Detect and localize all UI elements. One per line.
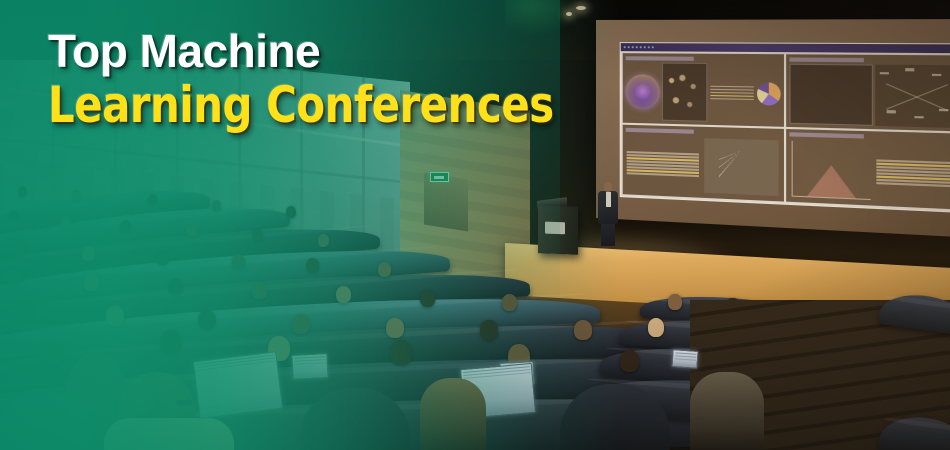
attendee-laptop xyxy=(291,353,328,380)
banner-headline: Top Machine Learning Conferences xyxy=(48,26,608,132)
panel-heading-bar xyxy=(626,128,694,134)
headline-line-1: Top Machine xyxy=(48,26,608,76)
ceiling-light-fixture xyxy=(576,6,586,10)
slide-panel-network xyxy=(786,54,950,131)
audience-head xyxy=(390,340,412,365)
article-banner: Top Machine Learning Conferences xyxy=(0,0,950,450)
orbital-diagram xyxy=(789,64,872,126)
projection-screen xyxy=(596,19,950,238)
audience-head xyxy=(42,340,64,365)
panel-text-lines xyxy=(875,141,950,206)
slide-panel-molecular xyxy=(623,53,784,127)
foreground-seat xyxy=(0,392,90,450)
particle-cluster-image xyxy=(662,63,707,122)
audience-head xyxy=(292,314,310,334)
audience-head xyxy=(306,258,319,273)
foreground-attendee-sweater xyxy=(104,418,234,450)
audience-head xyxy=(14,240,27,255)
audience-head xyxy=(148,194,157,205)
audience-head xyxy=(252,282,267,299)
slide-panel-funnel xyxy=(623,125,784,202)
audience-head xyxy=(574,320,592,340)
audience-head xyxy=(378,262,391,277)
attendee-laptop xyxy=(671,349,698,369)
funnel-diagram xyxy=(704,138,779,196)
slide-panel-distribution xyxy=(786,129,950,210)
panel-heading-bar xyxy=(789,132,864,138)
audience-head xyxy=(84,274,99,291)
audience-head xyxy=(668,294,682,310)
audience-head xyxy=(648,318,664,337)
audience-head xyxy=(502,294,517,311)
lectern xyxy=(538,205,578,254)
eyeglasses xyxy=(176,400,192,406)
audience-head xyxy=(232,254,245,269)
audience-head xyxy=(252,228,263,241)
headline-line-2: Learning Conferences xyxy=(48,78,569,132)
foreground-attendee xyxy=(690,372,764,450)
ceiling-light-fixture xyxy=(566,12,572,16)
panel-text-lines xyxy=(709,63,755,123)
audience-head xyxy=(186,224,197,237)
audience-head xyxy=(120,220,131,233)
audience-head xyxy=(336,286,351,303)
audience-head xyxy=(620,350,639,372)
audience-head xyxy=(6,268,21,285)
foreground-laptop xyxy=(193,351,283,419)
audience-head xyxy=(480,320,498,340)
audience-head xyxy=(72,190,81,201)
network-graph xyxy=(875,65,950,129)
distribution-plot xyxy=(792,141,871,200)
audience-head xyxy=(8,210,19,223)
pie-chart xyxy=(757,82,781,105)
audience-head xyxy=(168,278,183,295)
projected-slide xyxy=(620,42,950,213)
slide-panel-grid xyxy=(621,51,950,212)
audience-head xyxy=(18,186,27,197)
audience-head xyxy=(106,306,124,326)
panel-heading-bar xyxy=(789,57,864,62)
audience-head xyxy=(60,216,71,229)
audience-head xyxy=(82,246,95,261)
audience-head xyxy=(212,200,221,211)
audience-head xyxy=(156,250,169,265)
panel-heading-bar xyxy=(626,56,694,61)
audience-head xyxy=(318,234,329,247)
exit-sign xyxy=(430,172,449,182)
foreground-attendee xyxy=(420,378,486,450)
audience-head xyxy=(286,206,296,218)
speaker-legs xyxy=(601,222,615,246)
molecule-visualisation xyxy=(626,74,660,109)
panel-text-lines xyxy=(626,134,700,195)
lectern-logo xyxy=(545,222,565,235)
audience-head xyxy=(16,300,34,320)
speaker-shirt xyxy=(606,192,611,207)
audience-head xyxy=(420,290,435,307)
speaker-head xyxy=(604,182,612,192)
audience-head xyxy=(160,330,182,355)
audience-head xyxy=(198,310,216,330)
audience-head xyxy=(386,318,404,338)
